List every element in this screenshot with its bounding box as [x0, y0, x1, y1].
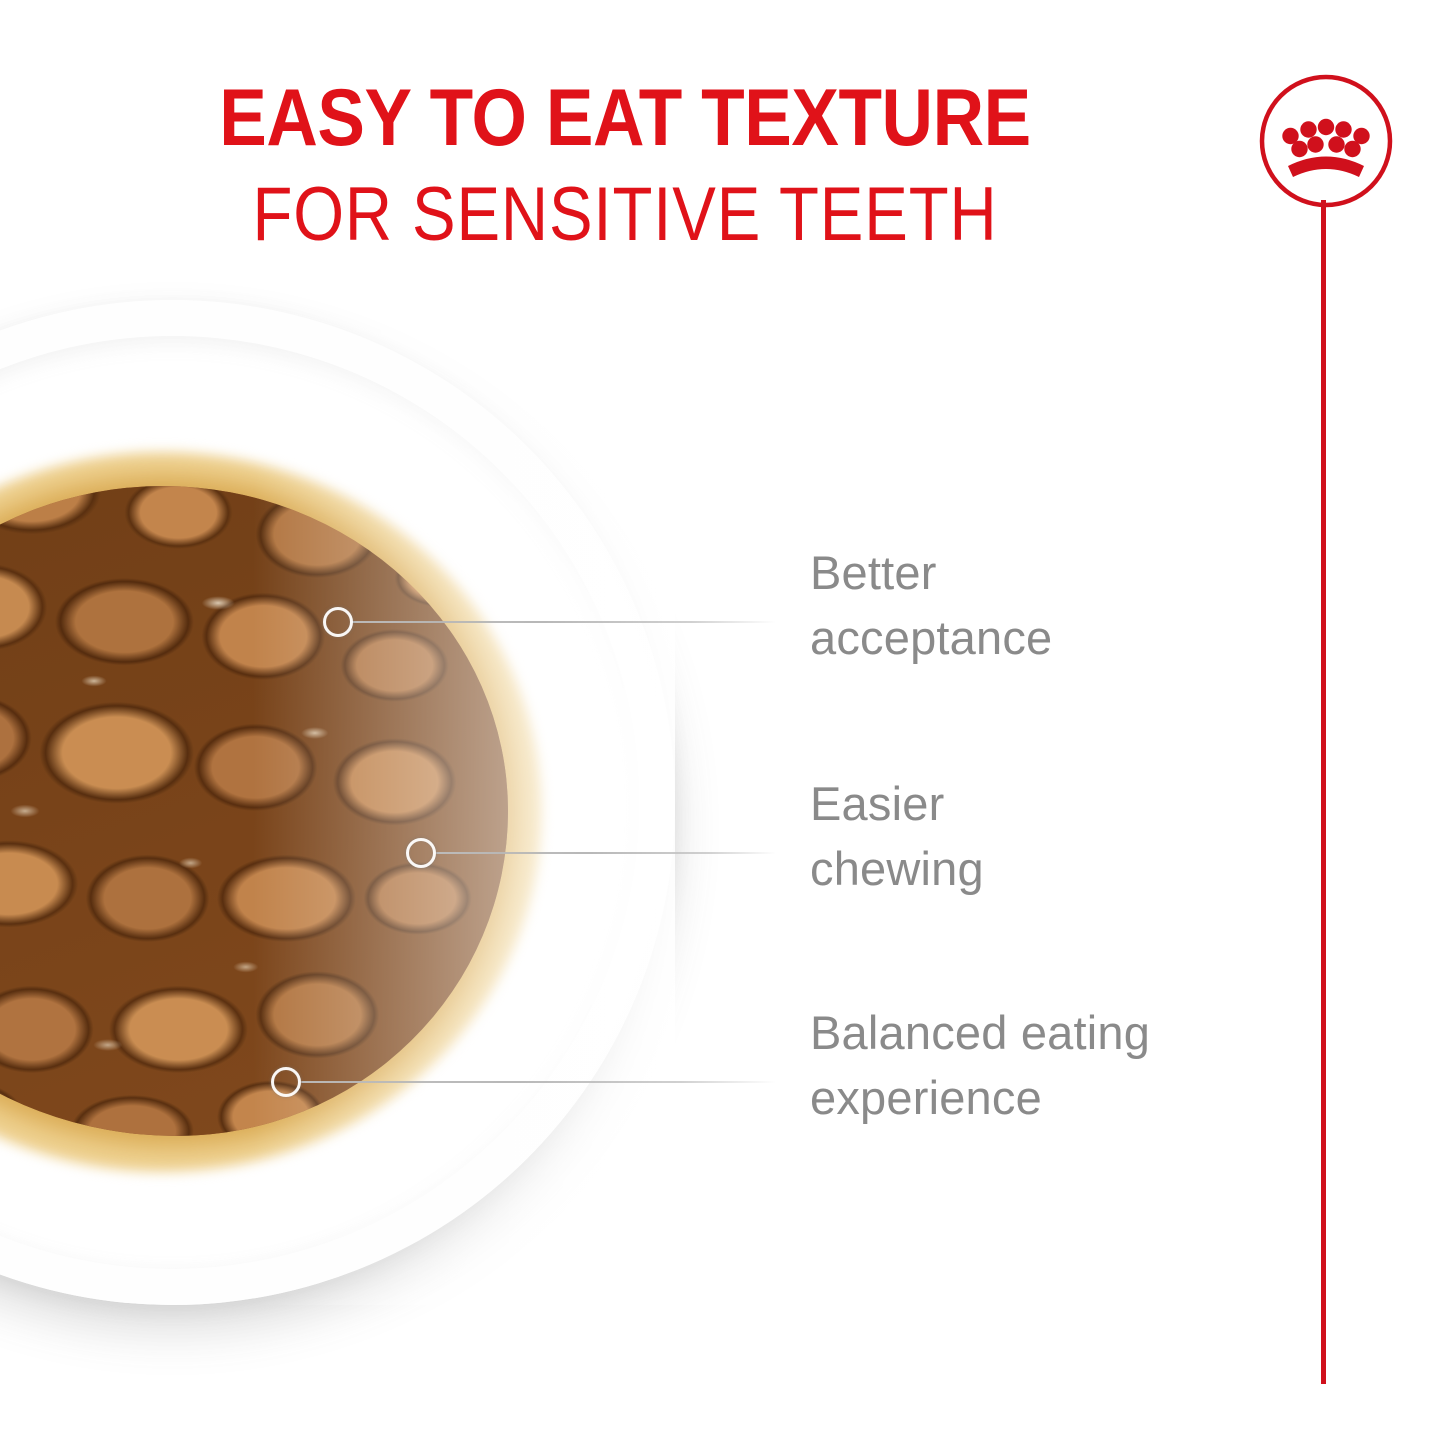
callout-leader-line-2: [436, 852, 776, 854]
callout-marker-1: [323, 607, 353, 637]
callout-leader-line-1: [352, 621, 776, 623]
callout-leader-line-3: [301, 1081, 776, 1083]
page-title: EASY TO EAT TEXTURE: [75, 80, 1175, 157]
callout-marker-2: [406, 838, 436, 868]
page-subtitle: FOR SENSITIVE TEETH: [88, 177, 1163, 253]
headline-block: EASY TO EAT TEXTURE FOR SENSITIVE TEETH: [0, 80, 1250, 253]
wet-food-chunks: [0, 486, 508, 1136]
callout-label-2: Easier chewing: [810, 772, 1250, 902]
callout-label-1: Better acceptance: [810, 541, 1250, 671]
brand-stem-line: [1321, 200, 1326, 1384]
product-photo: [0, 300, 675, 1305]
callout-label-3: Balanced eating experience: [810, 1001, 1270, 1131]
royal-canin-crown-icon: [1258, 73, 1394, 209]
callout-marker-3: [271, 1067, 301, 1097]
promo-canvas: EASY TO EAT TEXTURE FOR SENSITIVE TEETH: [0, 0, 1445, 1445]
